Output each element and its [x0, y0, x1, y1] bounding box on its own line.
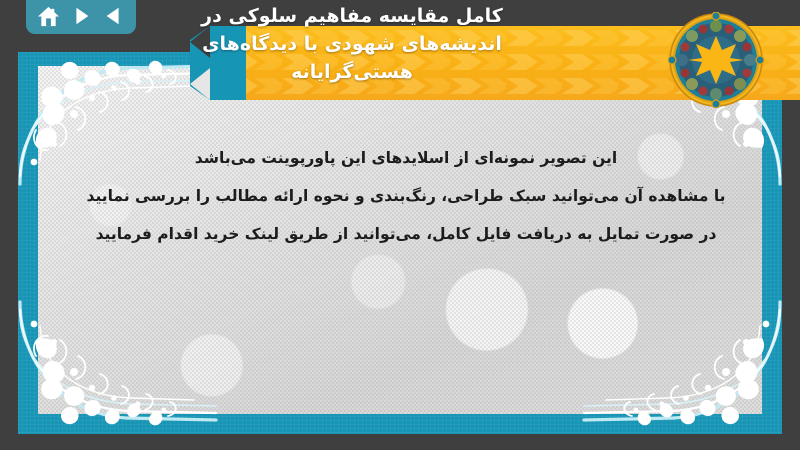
slide-preview-window: این تصویر نمونه‌ای از اسلایدهای این پاور…: [0, 0, 800, 450]
home-button[interactable]: [35, 3, 61, 29]
title-line-3: هستی‌گرایانه: [142, 58, 562, 86]
slide-body-text: این تصویر نمونه‌ای از اسلایدهای این پاور…: [52, 140, 760, 254]
home-icon: [37, 5, 60, 28]
forward-button[interactable]: [68, 3, 94, 29]
navigation-bar: [26, 0, 136, 34]
body-line-1: این تصویر نمونه‌ای از اسلایدهای این پاور…: [52, 140, 760, 178]
back-button[interactable]: [101, 3, 127, 29]
page-title: کامل مقایسه مفاهیم سلوکی در اندیشه‌های ش…: [142, 2, 562, 86]
title-line-2: اندیشه‌های شهودی با دیدگاه‌های: [142, 30, 562, 58]
body-line-3: در صورت تمایل به دریافت فایل کامل، می‌تو…: [52, 216, 760, 254]
title-line-1: کامل مقایسه مفاهیم سلوکی در: [142, 2, 562, 30]
triangle-left-icon: [103, 5, 125, 27]
persian-medallion-icon: [668, 12, 764, 108]
body-line-2: با مشاهده آن می‌توانید سبک طراحی، رنگ‌بن…: [52, 178, 760, 216]
triangle-right-icon: [70, 5, 92, 27]
